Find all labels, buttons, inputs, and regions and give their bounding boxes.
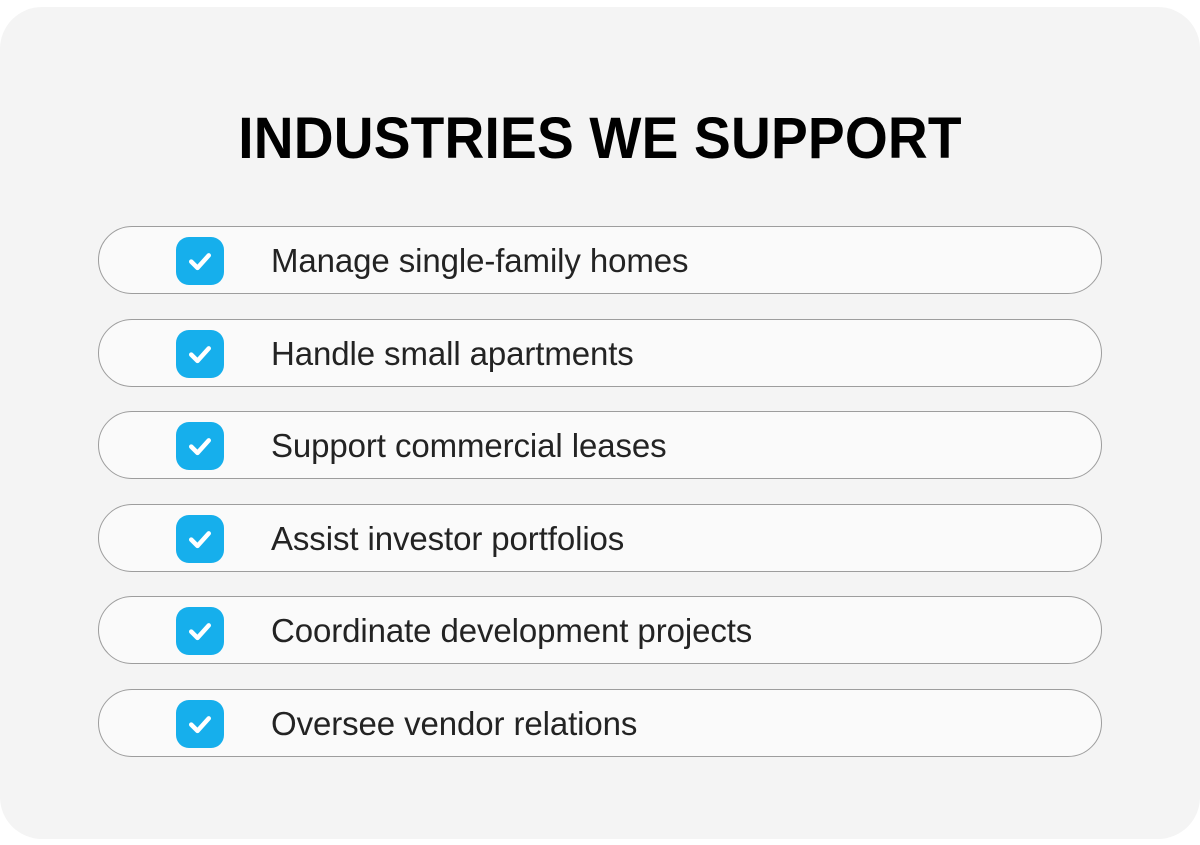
checkbox-checked[interactable]	[176, 607, 224, 655]
check-icon	[185, 339, 215, 369]
check-icon	[185, 431, 215, 461]
checkbox-checked[interactable]	[176, 237, 224, 285]
check-icon	[185, 709, 215, 739]
list-item[interactable]: Support commercial leases	[98, 411, 1102, 479]
list-item-label: Support commercial leases	[271, 412, 667, 480]
list-item-label: Handle small apartments	[271, 320, 634, 388]
industries-card: INDUSTRIES WE SUPPORT Manage single-fami…	[0, 7, 1200, 839]
checkbox-checked[interactable]	[176, 422, 224, 470]
check-icon	[185, 246, 215, 276]
page-title: INDUSTRIES WE SUPPORT	[30, 110, 1170, 168]
checkbox-checked[interactable]	[176, 700, 224, 748]
list-item-label: Manage single-family homes	[271, 227, 688, 295]
check-icon	[185, 524, 215, 554]
list-item[interactable]: Assist investor portfolios	[98, 504, 1102, 572]
list-item[interactable]: Coordinate development projects	[98, 596, 1102, 664]
list-item[interactable]: Manage single-family homes	[98, 226, 1102, 294]
list-item[interactable]: Handle small apartments	[98, 319, 1102, 387]
check-icon	[185, 616, 215, 646]
industries-list: Manage single-family homes Handle small …	[98, 226, 1102, 757]
page-root: INDUSTRIES WE SUPPORT Manage single-fami…	[0, 0, 1200, 845]
list-item[interactable]: Oversee vendor relations	[98, 689, 1102, 757]
list-item-label: Coordinate development projects	[271, 597, 752, 665]
checkbox-checked[interactable]	[176, 330, 224, 378]
list-item-label: Oversee vendor relations	[271, 690, 637, 758]
list-item-label: Assist investor portfolios	[271, 505, 624, 573]
checkbox-checked[interactable]	[176, 515, 224, 563]
